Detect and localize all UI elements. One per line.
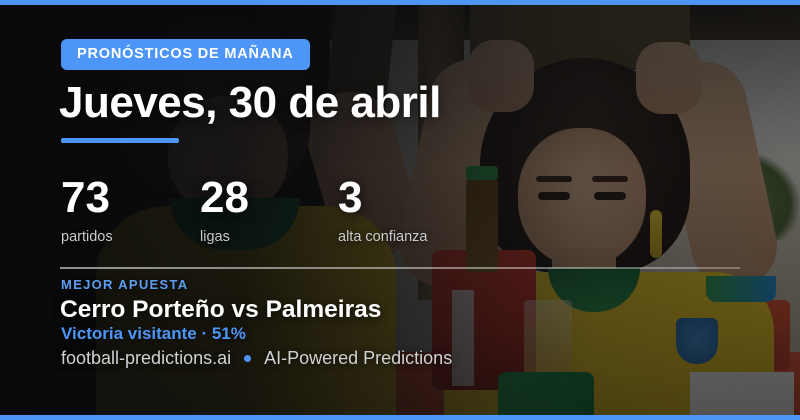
tomorrow-predictions-badge: PRONÓSTICOS DE MAÑANA <box>61 39 310 70</box>
footer-site-name: football-predictions.ai <box>61 348 231 369</box>
dot-separator-icon <box>244 355 251 362</box>
best-bet-label: MEJOR APUESTA <box>61 277 188 292</box>
stat-high-confidence: 3 alta confianza <box>338 176 427 245</box>
prediction-banner-card: PRONÓSTICOS DE MAÑANA Jueves, 30 de abri… <box>0 0 800 420</box>
stat-leagues: 28 ligas <box>200 176 338 245</box>
best-bet-match: Cerro Porteño vs Palmeiras <box>60 296 381 324</box>
footer-tagline: AI-Powered Predictions <box>264 348 452 369</box>
section-divider <box>60 267 740 269</box>
stat-leagues-value: 28 <box>200 176 338 220</box>
footer: football-predictions.ai AI-Powered Predi… <box>61 348 452 369</box>
page-title: Jueves, 30 de abril <box>59 78 441 128</box>
best-bet-prediction: Victoria visitante · 51% <box>61 324 246 344</box>
stat-high-confidence-label: alta confianza <box>338 229 427 245</box>
title-underline <box>61 138 179 143</box>
stat-matches-label: partidos <box>61 229 200 245</box>
stats-row: 73 partidos 28 ligas 3 alta confianza <box>61 176 427 245</box>
stat-high-confidence-value: 3 <box>338 176 427 220</box>
banner-content: PRONÓSTICOS DE MAÑANA Jueves, 30 de abri… <box>0 0 800 420</box>
stat-matches: 73 partidos <box>61 176 200 245</box>
stat-leagues-label: ligas <box>200 229 338 245</box>
stat-matches-value: 73 <box>61 176 200 220</box>
